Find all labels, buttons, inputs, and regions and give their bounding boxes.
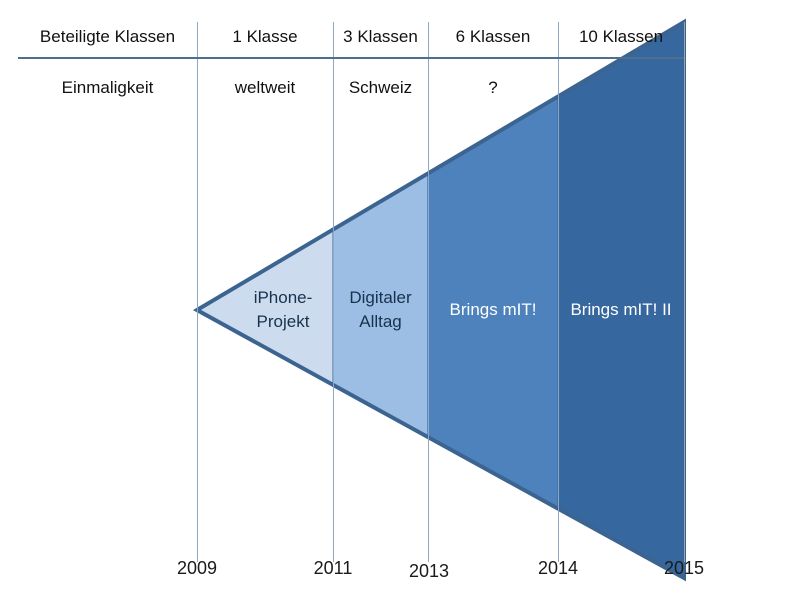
axis-label-2014: 2014 [518, 557, 598, 579]
axis-label-2011: 2011 [293, 557, 373, 579]
table-cell-0-0: 1 Klasse [197, 27, 333, 47]
table-cell-0-3: 10 Klassen [558, 27, 684, 47]
gridline-2014 [558, 22, 559, 562]
gridline-2009 [197, 22, 198, 562]
gridline-2015 [684, 22, 685, 562]
table-row-label-0: Beteiligte Klassen [18, 27, 197, 47]
table-cell-1-0: weltweit [197, 78, 333, 98]
funnel-segment-4 [558, 0, 686, 600]
table-cell-0-2: 6 Klassen [428, 27, 558, 47]
axis-label-2015: 2015 [644, 557, 724, 579]
table-cell-1-1: Schweiz [333, 78, 428, 98]
table-cell-0-1: 3 Klassen [333, 27, 428, 47]
table-row-label-1: Einmaligkeit [18, 78, 197, 98]
diagram-canvas: Beteiligte Klassen 1 Klasse 3 Klassen 6 … [0, 0, 800, 600]
table-cell-1-2: ? [428, 78, 558, 98]
axis-label-2013: 2013 [389, 560, 469, 582]
gridline-2011 [333, 22, 334, 562]
gridline-2013 [428, 22, 429, 562]
table-header-rule [18, 57, 684, 59]
axis-label-2009: 2009 [157, 557, 237, 579]
